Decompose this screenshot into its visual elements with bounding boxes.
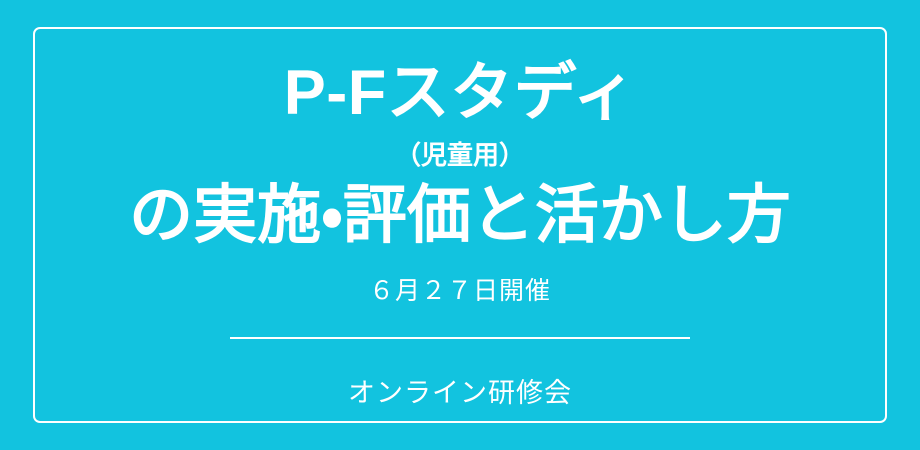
page-title: P-Fスタディ: [284, 0, 637, 125]
title-parenthetical-note: （児童用）: [395, 125, 525, 168]
event-date: ６月２７日開催: [369, 247, 551, 304]
seminar-poster: P-Fスタディ （児童用） の実施・評価と活かし方 ６月２７日開催 オンライン研…: [0, 0, 920, 450]
page-subtitle: の実施・評価と活かし方: [129, 168, 791, 247]
divider: [230, 337, 690, 339]
poster-content: P-Fスタディ （児童用） の実施・評価と活かし方 ６月２７日開催 オンライン研…: [0, 0, 920, 450]
event-format: オンライン研修会: [348, 347, 572, 407]
